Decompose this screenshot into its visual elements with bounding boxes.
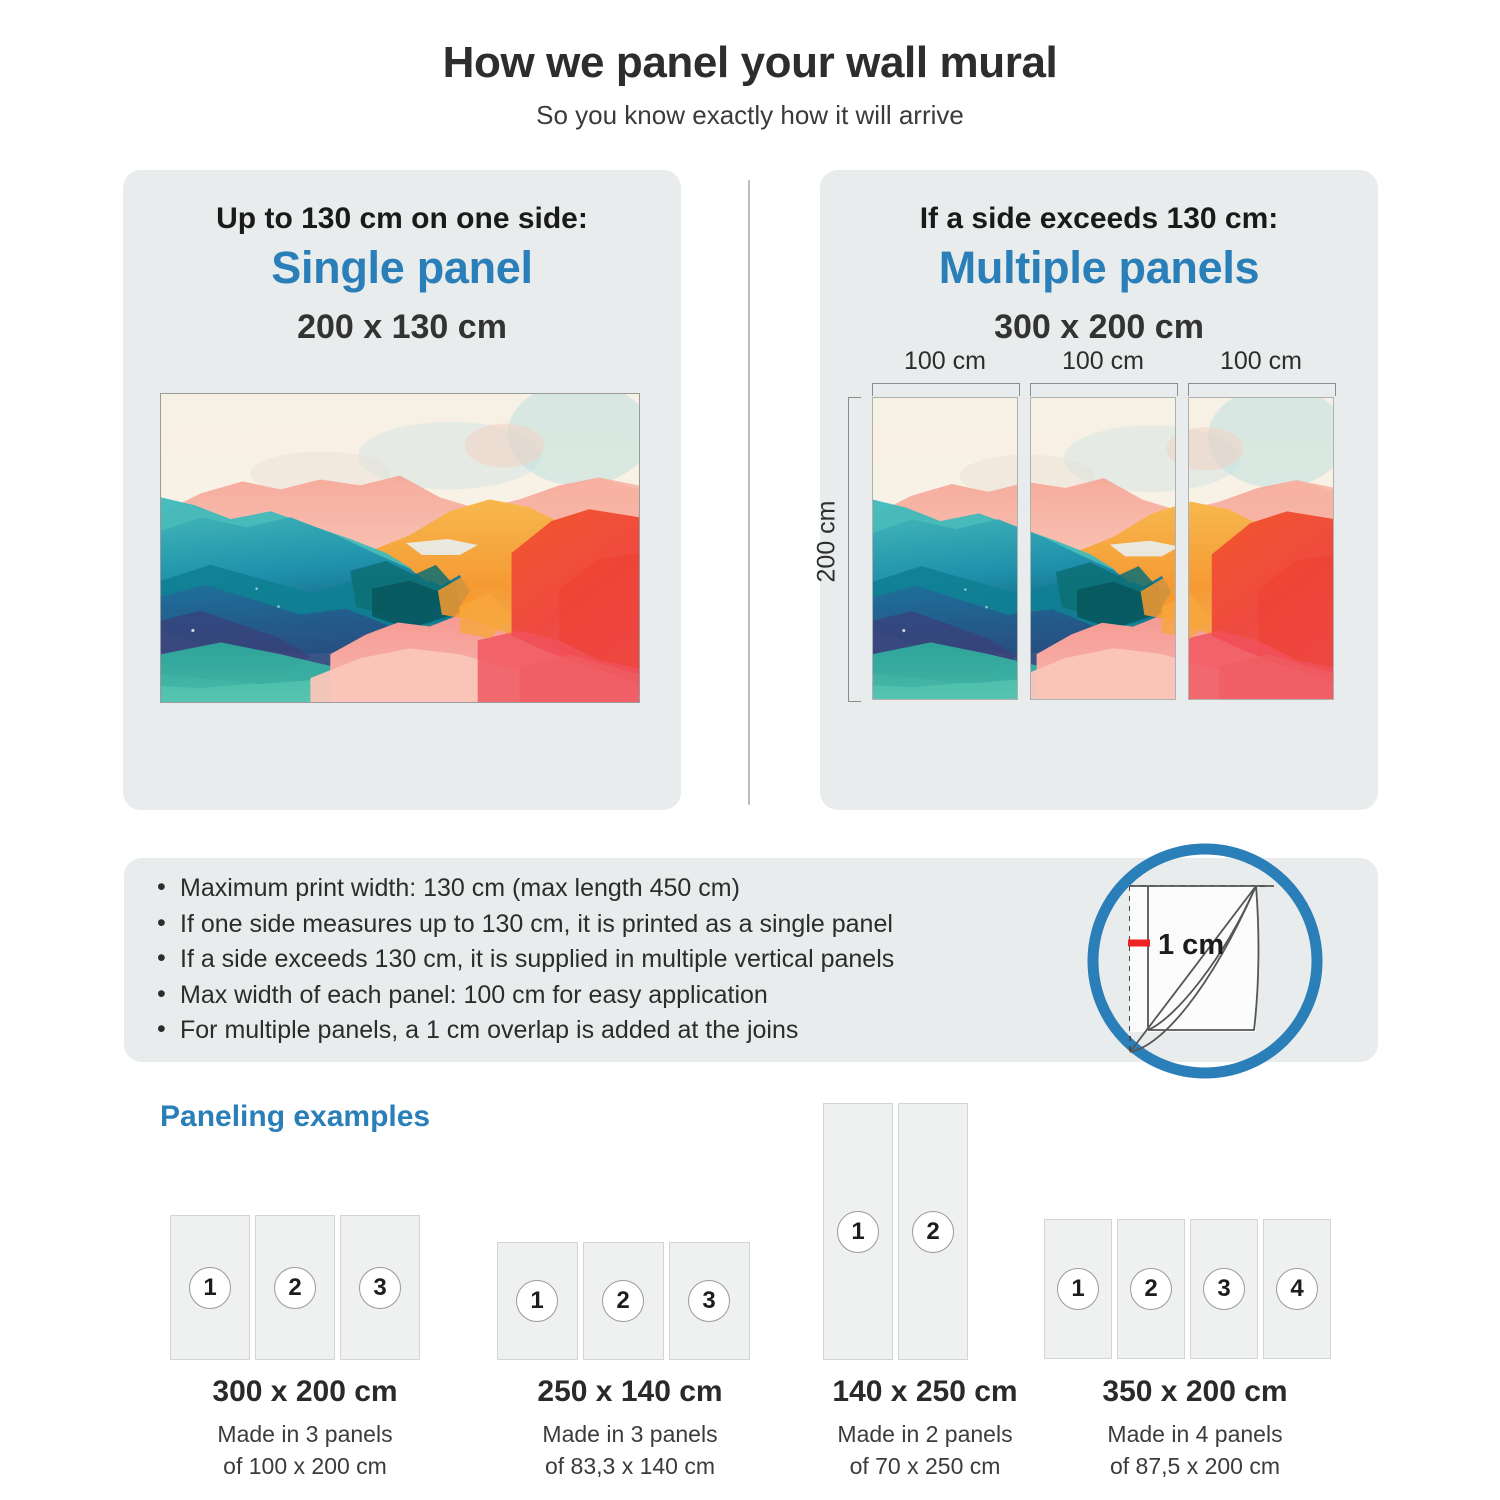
mural-panel-1-art bbox=[873, 398, 1018, 700]
mural-panel-1 bbox=[872, 397, 1018, 700]
panel-width-label-2: 100 cm bbox=[1030, 347, 1176, 376]
page-subtitle: So you know exactly how it will arrive bbox=[0, 100, 1500, 131]
paneling-example-4-title: 350 x 200 cm bbox=[1020, 1375, 1370, 1409]
ex1-panel-number-1: 1 bbox=[189, 1267, 231, 1309]
single-panel-dimensions: 200 x 130 cm bbox=[123, 308, 681, 347]
multiple-panels-heading: Multiple panels bbox=[820, 242, 1378, 294]
ex1-panel-number-3: 3 bbox=[359, 1267, 401, 1309]
overlap-label: 1 cm bbox=[1158, 929, 1224, 961]
page-title: How we panel your wall mural bbox=[0, 38, 1500, 88]
mural-panel-3-art bbox=[1188, 398, 1334, 700]
panel-height-label: 200 cm bbox=[812, 501, 841, 583]
list-item: If one side measures up to 130 cm, it is… bbox=[180, 907, 894, 943]
infographic-root: How we panel your wall mural So you know… bbox=[0, 0, 1500, 1500]
single-panel-heading: Single panel bbox=[123, 242, 681, 294]
mural-panel-2-art bbox=[1030, 398, 1176, 700]
ex4-panel-number-3: 3 bbox=[1203, 1268, 1245, 1310]
paneling-example-1-sub: Made in 3 panels of 100 x 200 cm bbox=[130, 1418, 480, 1482]
ex3-panel-number-2: 2 bbox=[912, 1211, 954, 1253]
overlap-diagram: 1 cm bbox=[1084, 840, 1326, 1082]
ex1-sub-line1: Made in 3 panels bbox=[130, 1418, 480, 1450]
mural-panel-2 bbox=[1030, 397, 1176, 700]
ex4-panel-number-2: 2 bbox=[1130, 1268, 1172, 1310]
ex4-panel-number-4: 4 bbox=[1276, 1268, 1318, 1310]
panel-width-label-1: 100 cm bbox=[872, 347, 1018, 376]
ex3-panel-number-1: 1 bbox=[837, 1211, 879, 1253]
ex2-panel-number-1: 1 bbox=[516, 1280, 558, 1322]
panel-width-dimension-line-2 bbox=[1030, 383, 1178, 396]
mural-panel-3 bbox=[1188, 397, 1334, 700]
panel-width-dimension-line-3 bbox=[1188, 383, 1336, 396]
ex1-sub-line2: of 100 x 200 cm bbox=[130, 1450, 480, 1482]
multiple-panels-dimensions: 300 x 200 cm bbox=[820, 308, 1378, 347]
ex2-panel-number-3: 3 bbox=[688, 1280, 730, 1322]
ex1-panel-number-2: 2 bbox=[274, 1267, 316, 1309]
ex4-sub-line2: of 87,5 x 200 cm bbox=[1020, 1450, 1370, 1482]
list-item: If a side exceeds 130 cm, it is supplied… bbox=[180, 942, 894, 978]
card-divider bbox=[748, 180, 750, 805]
panel-width-label-3: 100 cm bbox=[1188, 347, 1334, 376]
paneling-examples-title: Paneling examples bbox=[160, 1100, 430, 1134]
multiple-panels-diagram: 200 cm 100 cm 100 cm 100 cm bbox=[872, 397, 1334, 700]
single-panel-mural-image bbox=[160, 393, 640, 703]
list-item: Max width of each panel: 100 cm for easy… bbox=[180, 978, 894, 1014]
multiple-panels-kicker: If a side exceeds 130 cm: bbox=[820, 202, 1378, 236]
single-panel-kicker: Up to 130 cm on one side: bbox=[123, 202, 681, 236]
ex2-panel-number-2: 2 bbox=[602, 1280, 644, 1322]
paneling-example-1-title: 300 x 200 cm bbox=[130, 1375, 480, 1409]
panel-height-dimension-line bbox=[848, 397, 861, 702]
list-item: Maximum print width: 130 cm (max length … bbox=[180, 871, 894, 907]
ex4-panel-number-1: 1 bbox=[1057, 1268, 1099, 1310]
list-item: For multiple panels, a 1 cm overlap is a… bbox=[180, 1013, 894, 1049]
ex4-sub-line1: Made in 4 panels bbox=[1020, 1418, 1370, 1450]
panel-width-dimension-line-1 bbox=[872, 383, 1020, 396]
specs-list: Maximum print width: 130 cm (max length … bbox=[152, 871, 894, 1049]
paneling-example-4-sub: Made in 4 panels of 87,5 x 200 cm bbox=[1020, 1418, 1370, 1482]
